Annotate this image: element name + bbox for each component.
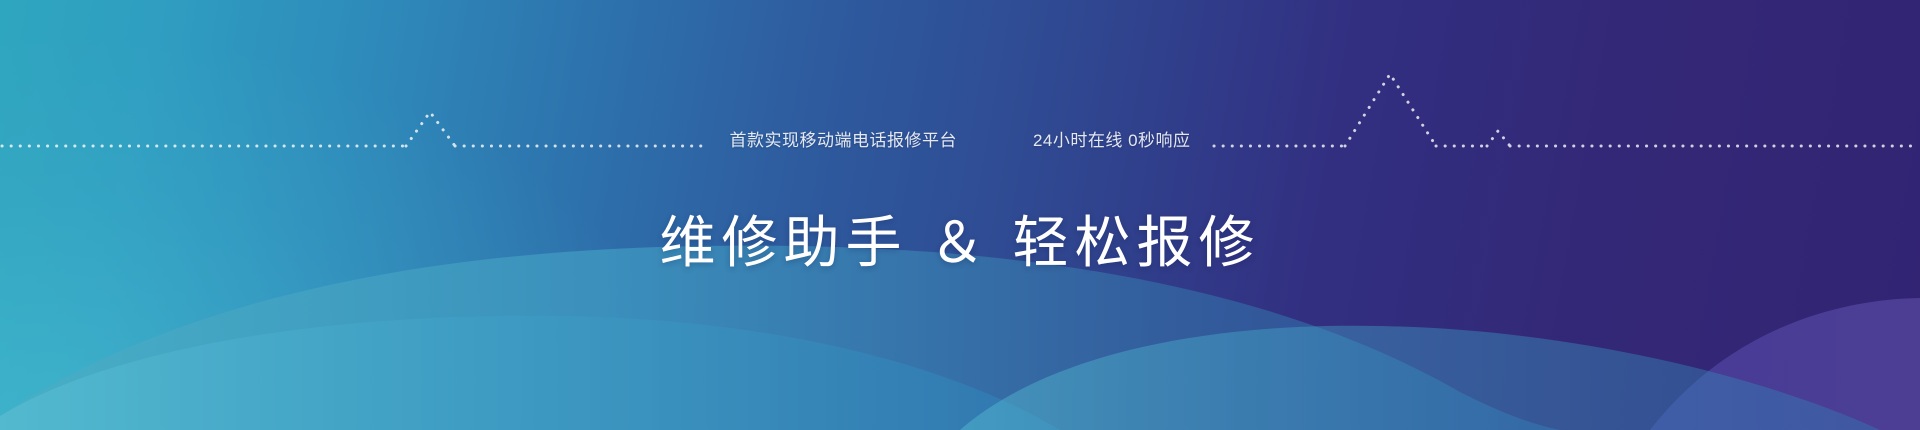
hero-subtitle-secondary: 24小时在线 0秒响应 [1033,128,1191,154]
hero-title: 维修助手 ＆ 轻松报修 [0,208,1920,278]
hero-content: 首款实现移动端电话报修平台 24小时在线 0秒响应 维修助手 ＆ 轻松报修 [0,0,1920,430]
hero-banner: 首款实现移动端电话报修平台 24小时在线 0秒响应 维修助手 ＆ 轻松报修 [0,0,1920,430]
hero-subtitle-row: 首款实现移动端电话报修平台 24小时在线 0秒响应 [0,128,1920,154]
hero-subtitle-primary: 首款实现移动端电话报修平台 [729,128,957,154]
